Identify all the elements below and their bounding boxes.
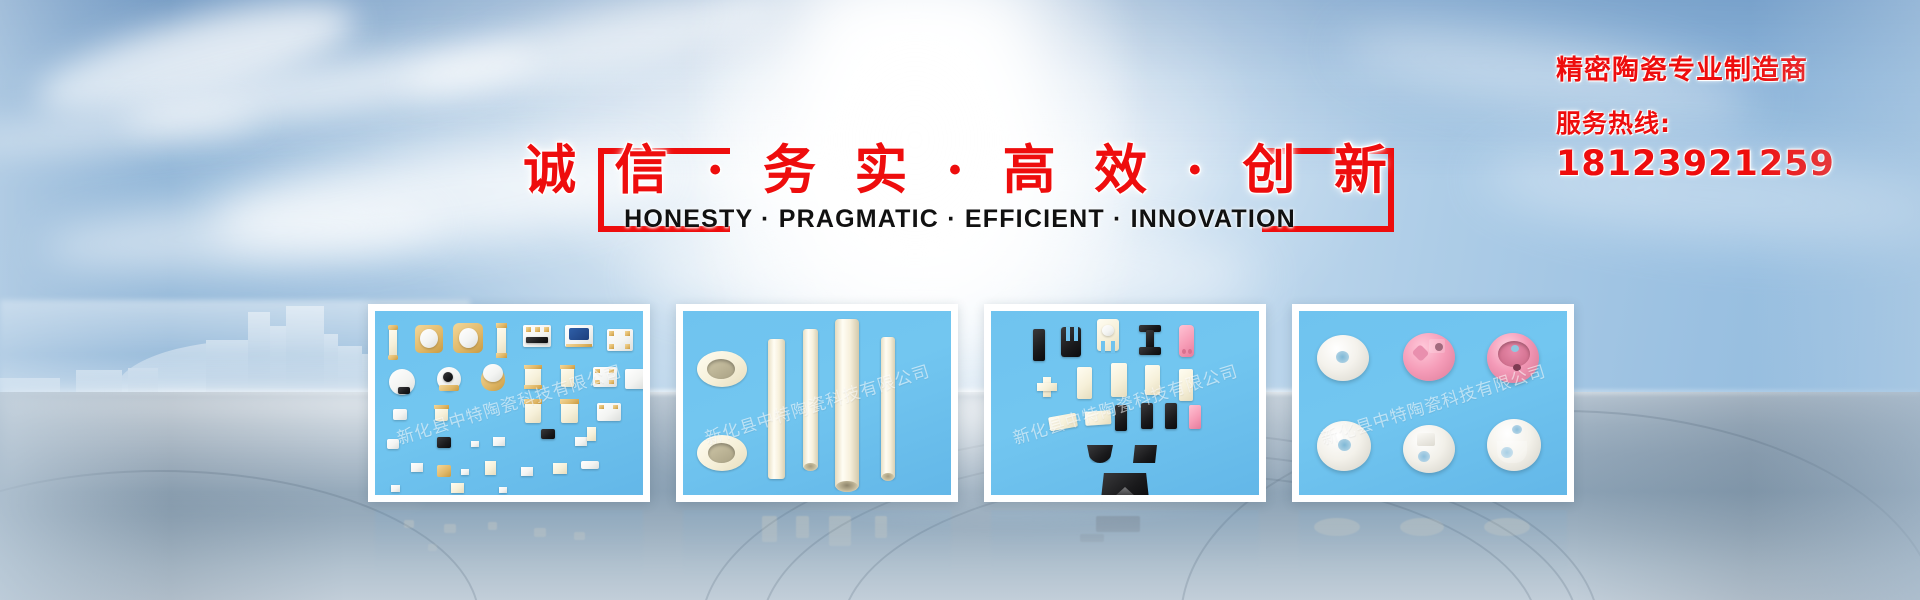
product-panel-1[interactable]: 新化县中特陶瓷科技有限公司 [368, 304, 650, 502]
product-panel-2-image: 新化县中特陶瓷科技有限公司 [683, 311, 951, 495]
product-panel-2[interactable]: 新化县中特陶瓷科技有限公司 [676, 304, 958, 502]
panel-4-reflection [1292, 510, 1574, 590]
product-panel-4[interactable]: 新化县中特陶瓷科技有限公司 [1292, 304, 1574, 502]
panel-2-reflection [676, 510, 958, 590]
product-panel-gallery: 新化县中特陶瓷科技有限公司 新化县中特陶瓷科 [0, 0, 1920, 600]
product-panel-1-image: 新化县中特陶瓷科技有限公司 [375, 311, 643, 495]
panel-3-reflection [984, 510, 1266, 590]
product-panel-3[interactable]: 新化县中特陶瓷科技有限公司 [984, 304, 1266, 502]
product-panel-3-image: 新化县中特陶瓷科技有限公司 [991, 311, 1259, 495]
product-panel-4-image: 新化县中特陶瓷科技有限公司 [1299, 311, 1567, 495]
promotional-banner: 诚 信 · 务 实 · 高 效 · 创 新 HONESTY · PRAGMATI… [0, 0, 1920, 600]
panel-1-reflection [368, 510, 650, 590]
